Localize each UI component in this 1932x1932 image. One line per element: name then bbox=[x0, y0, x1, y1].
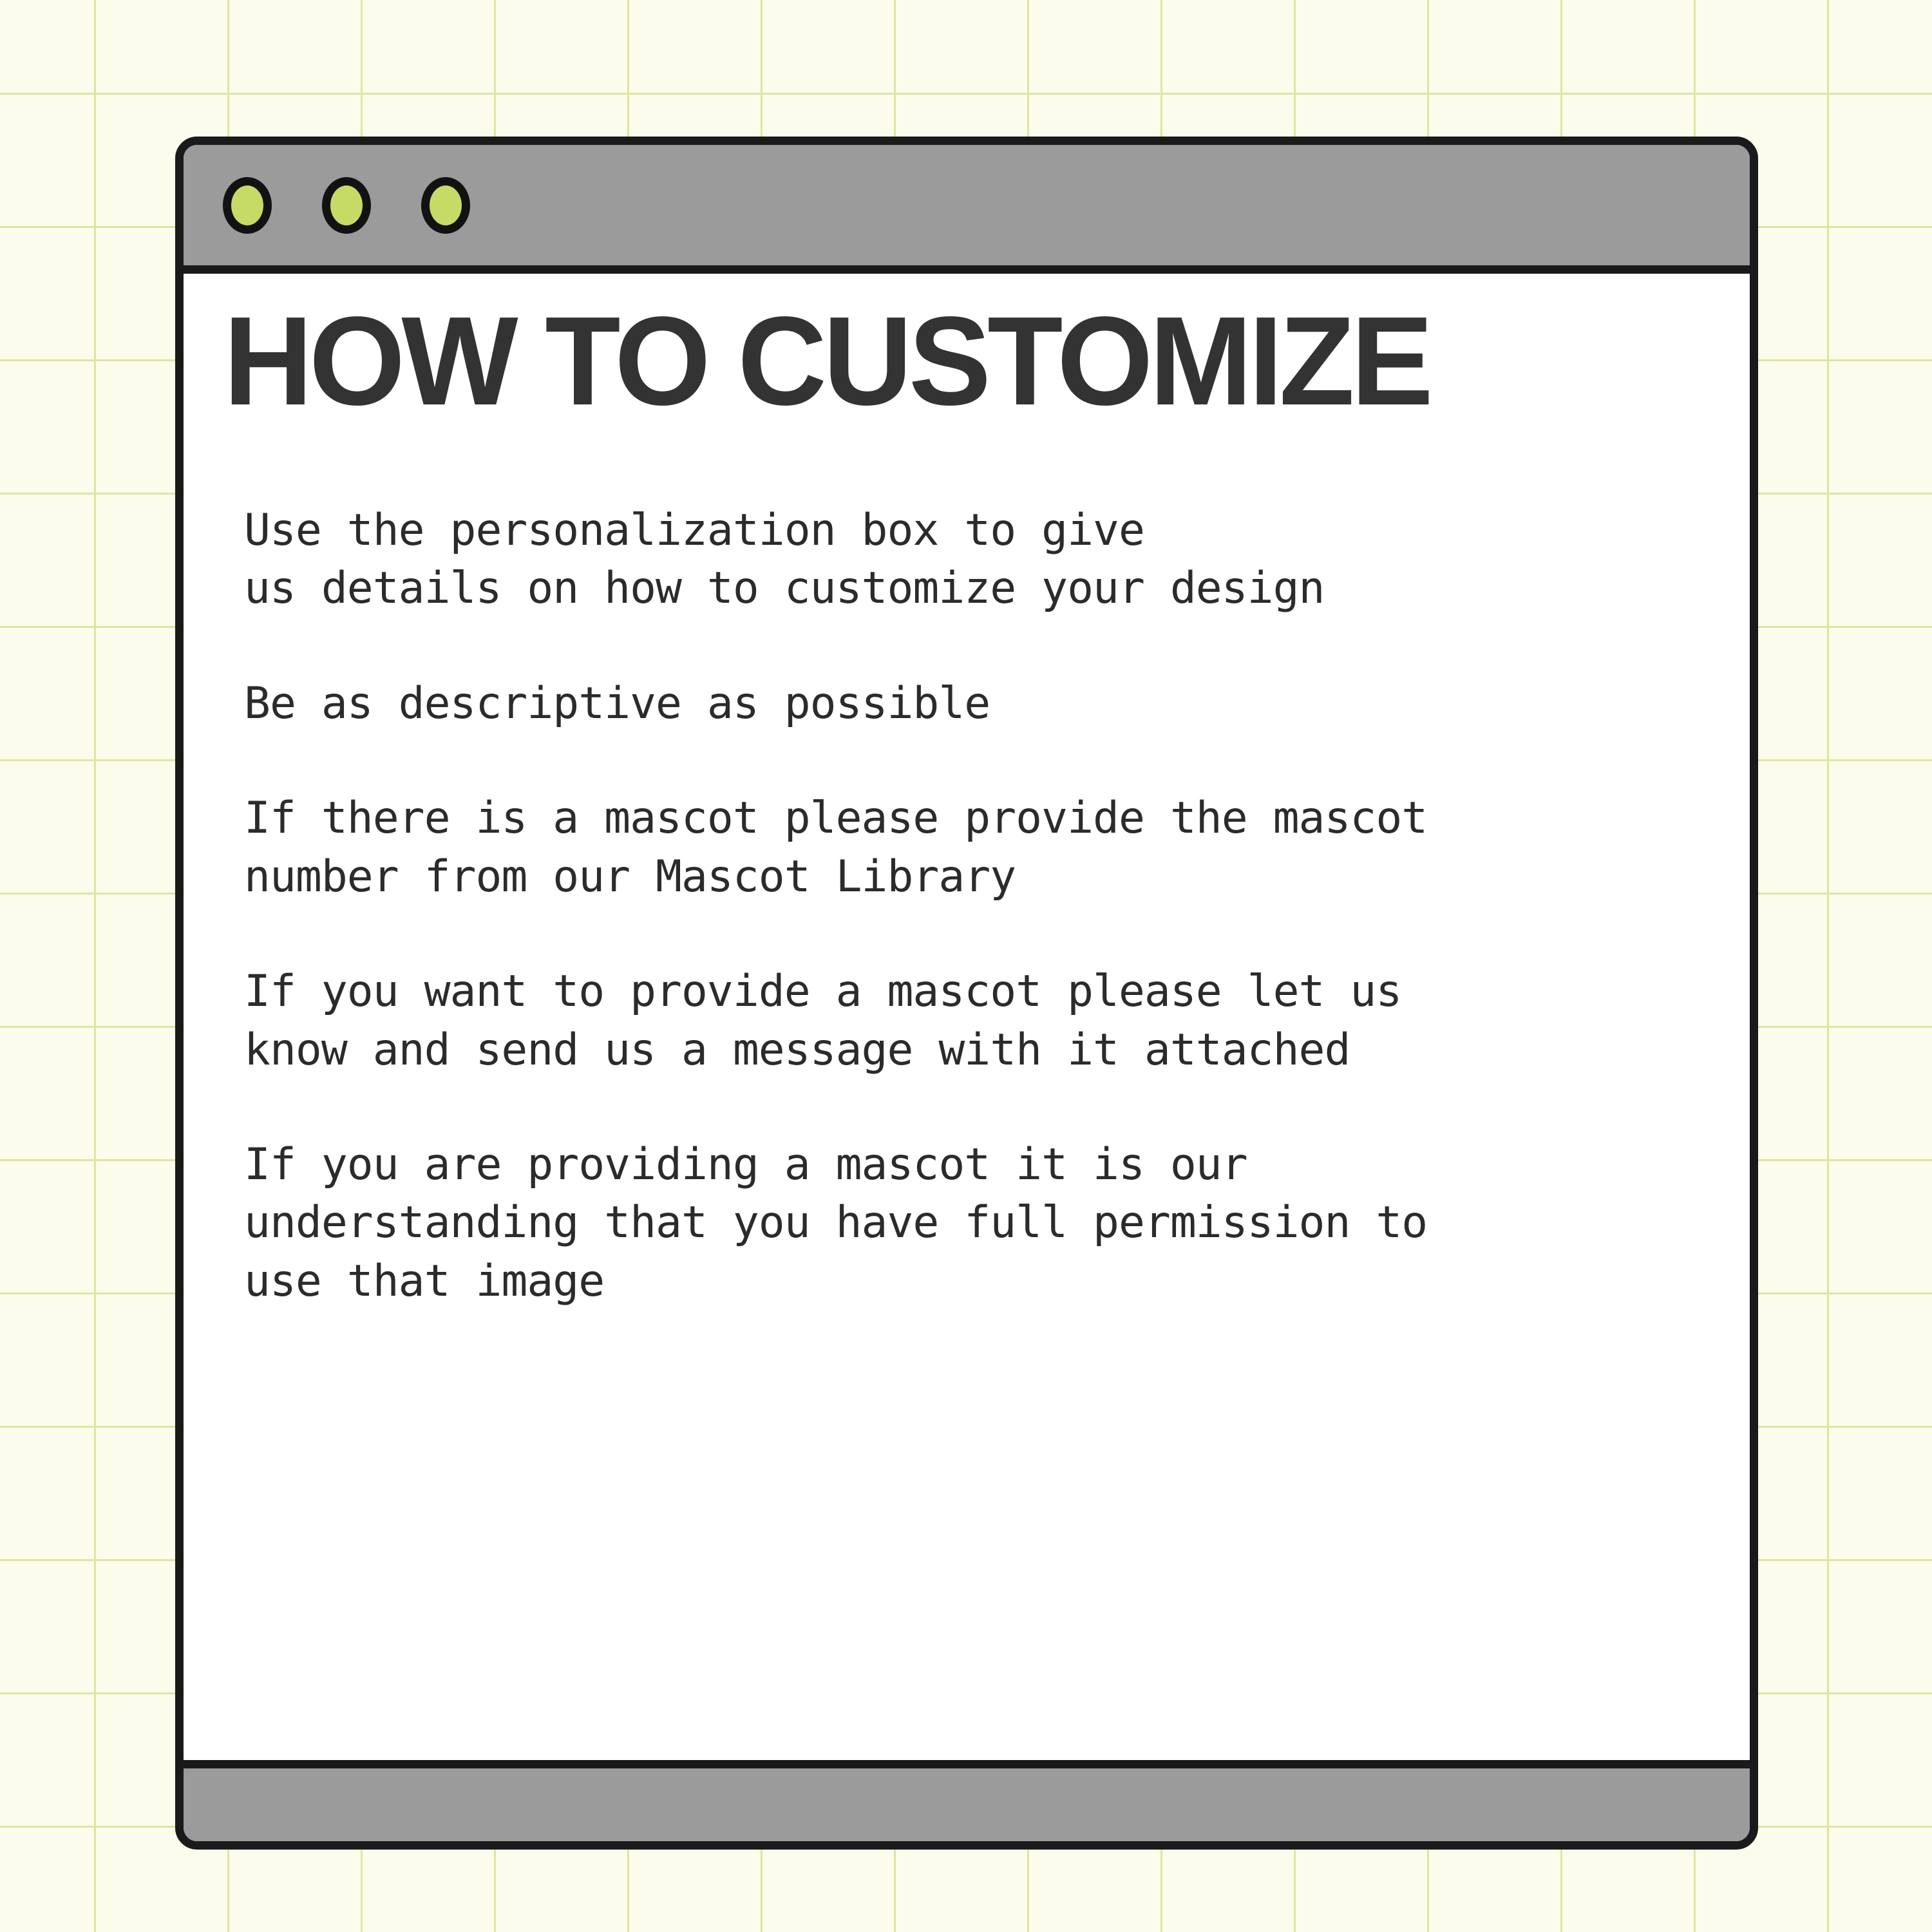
graph-paper-background: HOW TO CUSTOMIZE Use the personalization… bbox=[0, 0, 1932, 1932]
window-titlebar bbox=[184, 145, 1750, 274]
instruction-paragraph: If you are providing a mascot it is our … bbox=[244, 1136, 1710, 1311]
page-title: HOW TO CUSTOMIZE bbox=[223, 297, 1680, 426]
instruction-paragraph: If there is a mascot please provide the … bbox=[244, 790, 1710, 906]
window-dot-2[interactable] bbox=[322, 177, 371, 234]
instruction-paragraph: Be as descriptive as possible bbox=[244, 675, 1710, 733]
instructions-list: Use the personalization box to give us d… bbox=[223, 502, 1710, 1311]
window-dot-1[interactable] bbox=[223, 177, 272, 234]
window-dot-3[interactable] bbox=[421, 177, 470, 234]
window-bottombar bbox=[184, 1760, 1750, 1841]
app-window: HOW TO CUSTOMIZE Use the personalization… bbox=[175, 137, 1758, 1850]
instruction-paragraph: If you want to provide a mascot please l… bbox=[244, 963, 1710, 1079]
instruction-paragraph: Use the personalization box to give us d… bbox=[244, 502, 1710, 618]
window-content: HOW TO CUSTOMIZE Use the personalization… bbox=[184, 274, 1750, 1760]
